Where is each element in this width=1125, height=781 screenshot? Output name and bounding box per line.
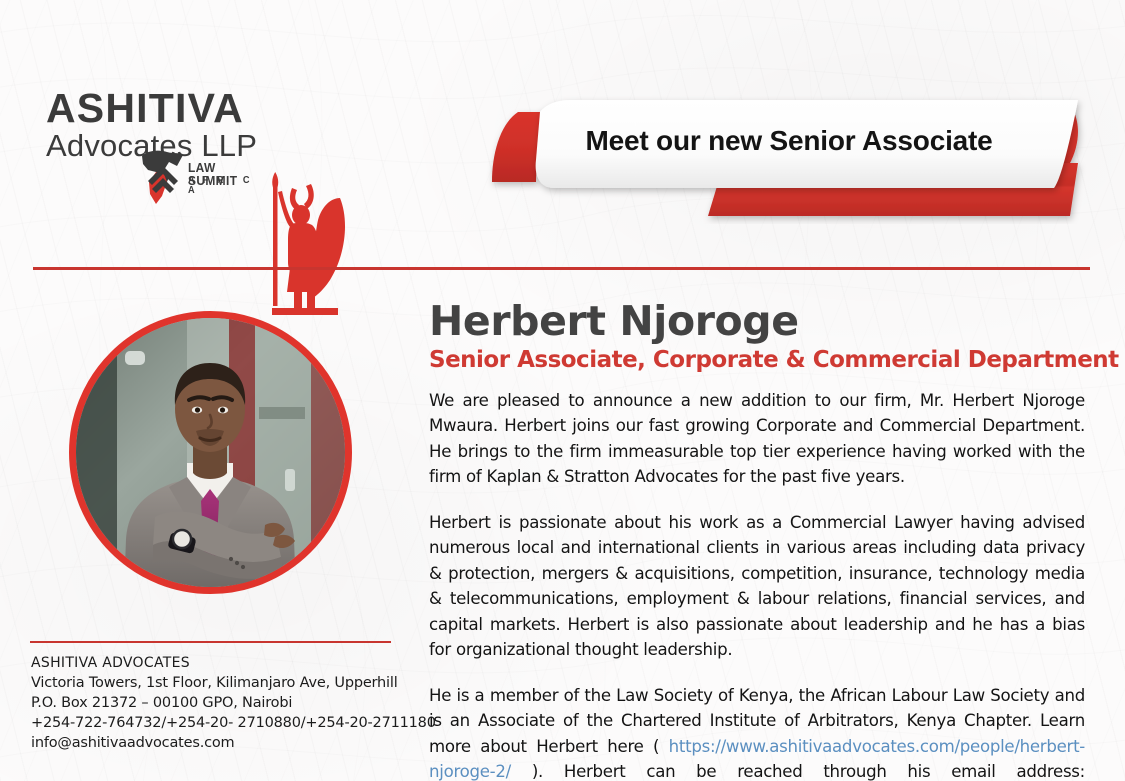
profile-content: Herbert Njoroge Senior Associate, Corpor… xyxy=(429,300,1085,781)
profile-paragraph-3-text-b: ). Herbert can be reached through his em… xyxy=(532,762,1085,781)
profile-paragraph-2: Herbert is passionate about his work as … xyxy=(429,510,1085,663)
footer-email[interactable]: info@ashitivaadvocates.com xyxy=(31,733,431,753)
announcement-poster: ASHITIVA Advocates LLP LAW SUMMIT A F R … xyxy=(0,0,1125,781)
avatar xyxy=(69,311,352,594)
africa-map-icon xyxy=(134,148,192,210)
brand-name-line1: ASHITIVA xyxy=(46,88,244,129)
law-summit-line2: A F R I C A xyxy=(188,176,258,196)
footer-phone: +254-722-764732/+254-20- 2710880/+254-20… xyxy=(31,713,431,733)
brand-logo: ASHITIVA Advocates LLP LAW SUMMIT A F R … xyxy=(36,84,336,244)
portrait-photo xyxy=(69,311,352,594)
profile-paragraph-3: He is a member of the Law Society of Ken… xyxy=(429,683,1085,781)
banner-title: Meet our new Senior Associate xyxy=(554,125,1024,157)
footer-address: Victoria Towers, 1st Floor, Kilimanjaro … xyxy=(31,673,431,693)
law-summit-africa-logo: LAW SUMMIT A F R I C A xyxy=(134,148,264,210)
page-title: Herbert Njoroge xyxy=(429,300,1085,343)
footer-po-box: P.O. Box 21372 – 00100 GPO, Nairobi xyxy=(31,693,431,713)
footer-divider xyxy=(30,641,391,643)
profile-paragraph-1: We are pleased to announce a new additio… xyxy=(429,388,1085,490)
profile-role: Senior Associate, Corporate & Commercial… xyxy=(429,347,1085,375)
header-divider xyxy=(33,267,1090,270)
footer-firm-name: ASHITIVA ADVOCATES xyxy=(31,653,431,673)
header-banner: Meet our new Senior Associate xyxy=(478,84,1108,224)
maasai-warrior-icon xyxy=(254,168,354,320)
footer-contact: ASHITIVA ADVOCATES Victoria Towers, 1st … xyxy=(31,653,431,753)
